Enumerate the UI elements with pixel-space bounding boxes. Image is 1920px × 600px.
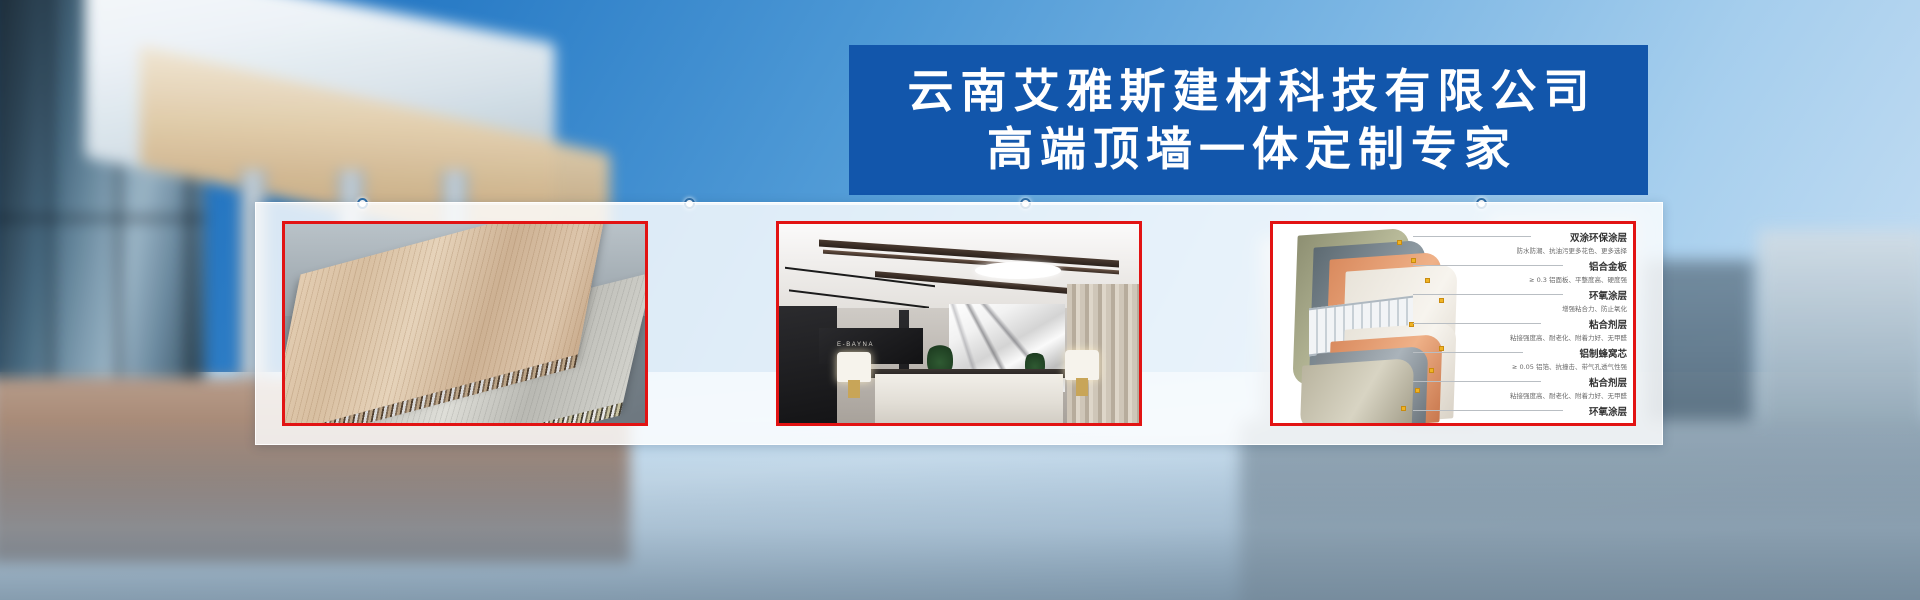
layer-title: 铝制蜂窝芯: [1575, 348, 1627, 361]
mullion: [0, 216, 205, 221]
leader-line: [1413, 294, 1563, 295]
table-lamp-right: [1065, 350, 1099, 380]
layer-desc: 防水防潮、抗油污更多花色、更多选择: [1413, 246, 1627, 256]
foreground-haze: [0, 420, 1920, 600]
banner-stage: 云南艾雅斯建材科技有限公司 高端顶墙一体定制专家: [0, 0, 1920, 600]
table-lamp-left: [837, 352, 871, 382]
leader-line: [1413, 236, 1531, 237]
card-layer-structure-diagram[interactable]: 双涂环保涂层 防水防潮、抗油污更多花色、更多选择 铝合金板 ≥ 0.3 铝面板、…: [1270, 221, 1636, 426]
callout-node: [1401, 406, 1406, 411]
layer-label-item: 铝制蜂窝芯 ≥ 0.05 铝箔、抗撞击、带气孔透气性强: [1413, 344, 1627, 372]
company-name-line: 云南艾雅斯建材科技有限公司: [901, 63, 1597, 119]
layer-label-item: 粘合剂层 粘接强度高、耐老化、附着力好、无甲醛: [1413, 373, 1627, 401]
card-honeycomb-panel-photo[interactable]: [282, 221, 648, 426]
leader-line: [1413, 352, 1523, 353]
signage-text: E-BAYNA: [837, 342, 874, 348]
layer-label-item: 铝合金板: [1413, 421, 1627, 426]
callout-node: [1397, 240, 1402, 245]
layer-desc: ≥ 0.3 铝面板、平整度高、硬度强: [1413, 275, 1627, 285]
reception-desk: [875, 374, 1063, 426]
company-title-box: 云南艾雅斯建材科技有限公司 高端顶墙一体定制专家: [849, 45, 1648, 195]
lamp-base: [1076, 378, 1088, 396]
layer-title: 双涂环保涂层: [1566, 232, 1627, 245]
building-block: [1758, 230, 1920, 440]
company-slogan-line: 高端顶墙一体定制专家: [980, 121, 1517, 177]
layer-desc: ≥ 0.05 铝箔、抗撞击、带气孔透气性强: [1413, 362, 1627, 372]
layer-title: 铝合金板: [1585, 425, 1627, 426]
product-gallery: E-BAYNA: [255, 202, 1663, 445]
dark-cabinet-left: [779, 306, 837, 424]
ceiling-pendant-light: [975, 262, 1061, 279]
layer-title: 铝合金板: [1585, 261, 1627, 274]
layer-label-item: 粘合剂层 粘接强度高、耐老化、附着力好、无甲醛: [1413, 315, 1627, 343]
layer-label-item: 环氧涂层 增强粘合力、防止氧化: [1413, 286, 1627, 314]
card-interior-showroom-render[interactable]: E-BAYNA: [776, 221, 1142, 426]
leader-line: [1413, 410, 1563, 411]
layer-title: 环氧涂层: [1585, 406, 1627, 419]
layer-title: 粘合剂层: [1585, 319, 1627, 332]
layer-label-list: 双涂环保涂层 防水防潮、抗油污更多花色、更多选择 铝合金板 ≥ 0.3 铝面板、…: [1413, 228, 1627, 426]
layer-title: 粘合剂层: [1585, 377, 1627, 390]
lamp-base: [848, 380, 860, 398]
layer-desc: 粘接强度高、耐老化、附着力好、无甲醛: [1413, 391, 1627, 401]
layer-title: 环氧涂层: [1585, 290, 1627, 303]
layer-label-item: 铝合金板 ≥ 0.3 铝面板、平整度高、硬度强: [1413, 257, 1627, 285]
leader-line: [1413, 381, 1541, 382]
leader-line: [1413, 265, 1563, 266]
layer-sheet-coating-bottom: [1300, 358, 1414, 426]
layer-desc: 增强粘合力、防止氧化: [1413, 304, 1627, 314]
layer-label-item: 环氧涂层: [1413, 402, 1627, 420]
layer-desc: 粘接强度高、耐老化、附着力好、无甲醛: [1413, 333, 1627, 343]
layer-label-item: 双涂环保涂层 防水防潮、抗油污更多花色、更多选择: [1413, 228, 1627, 256]
leader-line: [1413, 323, 1541, 324]
